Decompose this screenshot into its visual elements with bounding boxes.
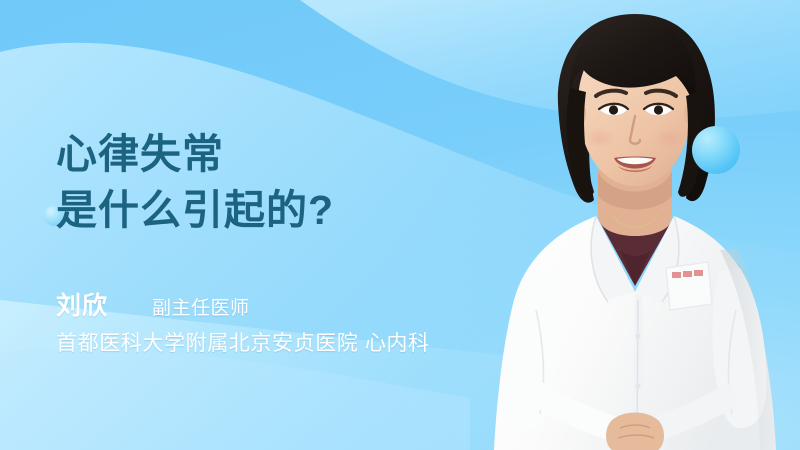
doctor-title: 副主任医师 <box>152 293 250 320</box>
coat-button-2 <box>635 383 640 388</box>
clasped-hands <box>606 413 664 450</box>
doctor-name: 刘欣 <box>56 286 108 322</box>
coat-button-1 <box>635 333 640 338</box>
gradient-sphere-large-icon <box>692 126 740 174</box>
doctor-affiliation: 首都医科大学附属北京安贞医院 心内科 <box>56 327 526 357</box>
byline-row-name-title: 刘欣 副主任医师 <box>56 286 526 316</box>
headline-block: 心律失常 是什么引起的? <box>56 126 526 238</box>
doctor-portrait <box>470 0 800 450</box>
thumbnail-canvas: 心律失常 是什么引起的? 刘欣 副主任医师 首都医科大学附属北京安贞医院 心内科 <box>0 0 800 450</box>
coat-chest-pocket <box>666 262 712 310</box>
cheek-right <box>654 127 686 149</box>
pupil-left <box>609 105 618 114</box>
headline-line-2: 是什么引起的? <box>56 182 526 238</box>
pupil-right <box>654 105 663 114</box>
byline-block: 刘欣 副主任医师 首都医科大学附属北京安贞医院 心内科 <box>56 286 526 357</box>
headline-line-1: 心律失常 <box>56 126 526 182</box>
cheek-left <box>584 127 616 149</box>
